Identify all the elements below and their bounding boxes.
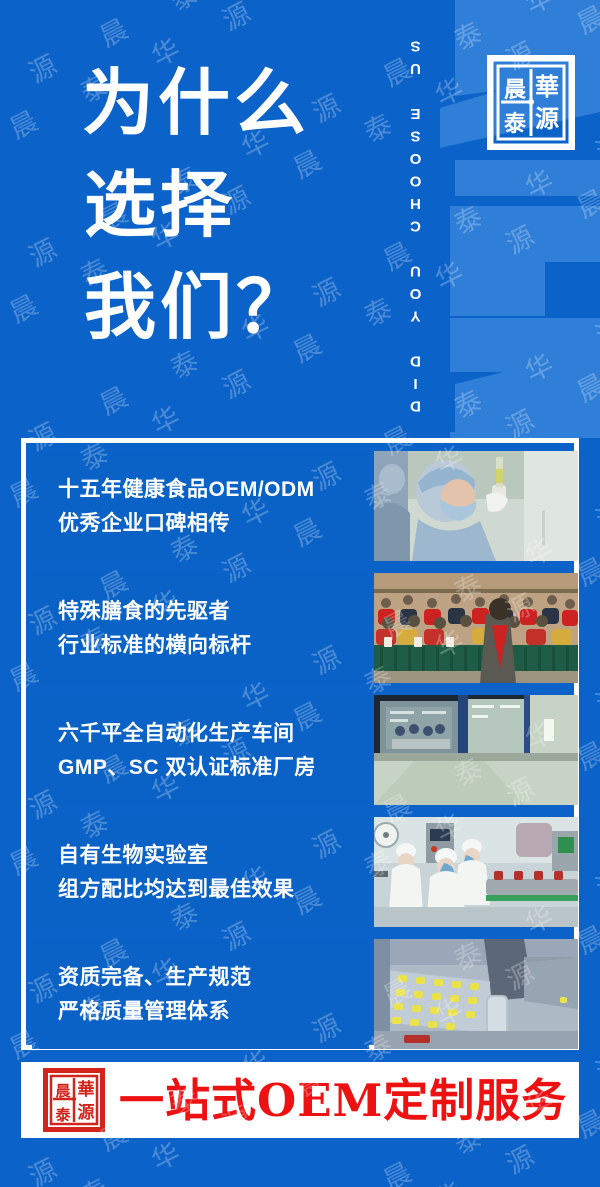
title-line-2: 选择 — [82, 154, 382, 256]
svg-text:泰: 泰 — [54, 1106, 71, 1124]
feature-row: 资质完备、生产规范 严格质量管理体系 — [32, 939, 578, 1049]
feature-card: 十五年健康食品OEM/ODM 优秀企业口碑相传 — [32, 451, 369, 561]
feature-row: 六千平全自动化生产车间 GMP、SC 双认证标准厂房 — [32, 695, 578, 805]
conference-audience-hall-photo — [374, 573, 578, 683]
huayuan-chentai-seal-icon: 華 源 晨 泰 — [487, 55, 575, 150]
feature-list: 十五年健康食品OEM/ODM 优秀企业口碑相传 — [21, 438, 579, 1050]
svg-text:晨: 晨 — [55, 1082, 71, 1100]
header: 为什么 选择 我们？ DID YOU CHOOSE US 華 源 晨 泰 — [0, 0, 600, 432]
svg-text:華: 華 — [535, 72, 559, 101]
vertical-tagline-text: DID YOU CHOOSE US — [407, 32, 424, 415]
huayuan-chentai-seal-red-icon: 華 源 晨 泰 — [43, 1068, 105, 1132]
poster-root: 为什么 选择 我们？ DID YOU CHOOSE US 華 源 晨 泰 — [0, 0, 600, 1187]
feature-line: 自有生物实验室 — [58, 839, 369, 873]
feature-line: 资质完备、生产规范 — [58, 961, 369, 995]
svg-text:泰: 泰 — [503, 111, 527, 137]
title-line-1: 为什么 — [82, 52, 382, 154]
cleanroom-corridor-window-photo — [374, 695, 578, 805]
svg-text:晨: 晨 — [504, 77, 527, 103]
feature-line: 十五年健康食品OEM/ODM — [58, 473, 369, 507]
lab-technician-holding-vial-photo — [374, 451, 578, 561]
feature-line: 组方配比均达到最佳效果 — [58, 873, 369, 907]
svg-text:華: 華 — [78, 1080, 95, 1100]
feature-card: 资质完备、生产规范 严格质量管理体系 — [32, 939, 369, 1049]
workers-inspecting-production-line-photo — [374, 817, 578, 927]
feature-card: 特殊膳食的先驱者 行业标准的横向标杆 — [32, 573, 369, 683]
vertical-tagline: DID YOU CHOOSE US — [398, 14, 432, 414]
feature-row: 特殊膳食的先驱者 行业标准的横向标杆 — [32, 573, 578, 683]
feature-row: 自有生物实验室 组方配比均达到最佳效果 — [32, 817, 578, 927]
feature-line: 严格质量管理体系 — [58, 995, 369, 1029]
tablet-packaging-machine-photo — [374, 939, 578, 1049]
feature-line: 六千平全自动化生产车间 — [58, 717, 369, 751]
feature-card: 六千平全自动化生产车间 GMP、SC 双认证标准厂房 — [32, 695, 369, 805]
bottom-banner: 華 源 晨 泰 一站式OEM定制服务 — [21, 1062, 579, 1138]
svg-text:源: 源 — [78, 1102, 95, 1123]
svg-text:源: 源 — [535, 104, 559, 133]
feature-line: 行业标准的横向标杆 — [58, 629, 369, 663]
feature-line: GMP、SC 双认证标准厂房 — [58, 751, 369, 785]
feature-card: 自有生物实验室 组方配比均达到最佳效果 — [32, 817, 369, 927]
feature-row: 十五年健康食品OEM/ODM 优秀企业口碑相传 — [32, 451, 578, 561]
feature-line: 特殊膳食的先驱者 — [58, 595, 369, 629]
feature-line: 优秀企业口碑相传 — [58, 507, 369, 541]
banner-slogan: 一站式OEM定制服务 — [119, 1078, 567, 1123]
page-title: 为什么 选择 我们？ — [82, 52, 382, 358]
title-line-3: 我们？ — [82, 256, 382, 358]
